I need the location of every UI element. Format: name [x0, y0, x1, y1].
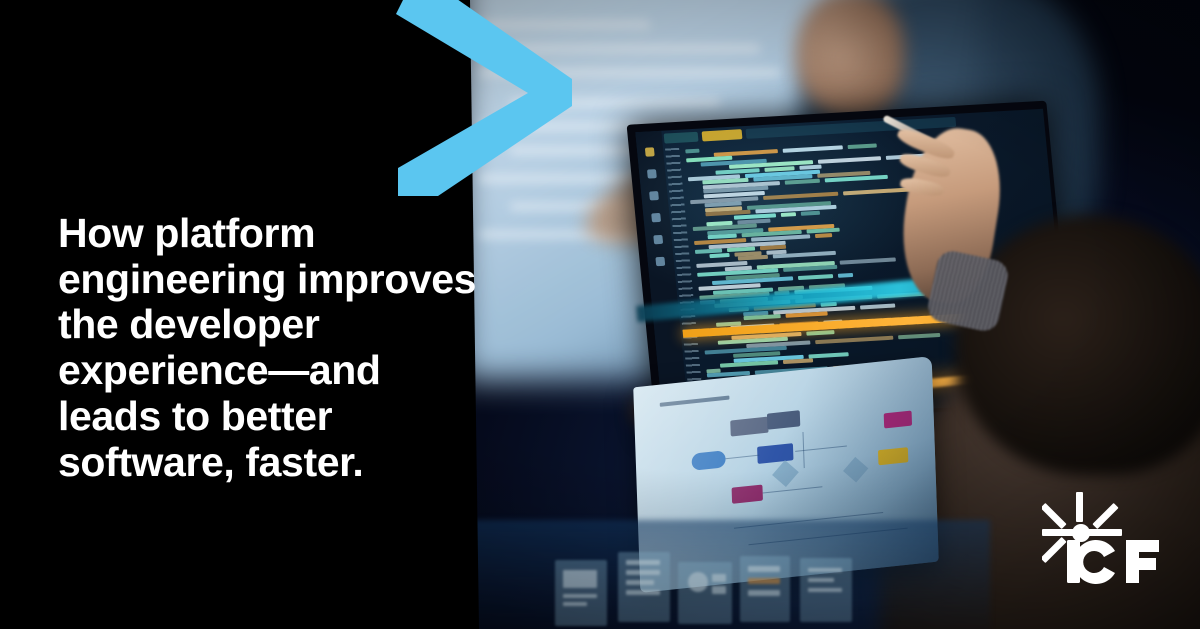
desk-printout: [800, 558, 852, 622]
eyebrow-label: ARTICLE: [62, 106, 156, 125]
desk-printout: [678, 562, 732, 624]
sleeve-cuff: [925, 248, 1010, 333]
icf-logo: [1042, 492, 1182, 592]
page-title: How platform engineering improves the de…: [58, 211, 478, 485]
foreground-person-head: [955, 215, 1200, 475]
desk-printout: [740, 556, 790, 622]
chevron-right-icon: [392, 0, 572, 196]
desk-printout: [555, 560, 607, 626]
desk-printout: [618, 552, 670, 622]
article-promo-card: ARTICLE How platform engineering improve…: [0, 0, 1200, 629]
icf-wordmark: [1067, 540, 1159, 584]
